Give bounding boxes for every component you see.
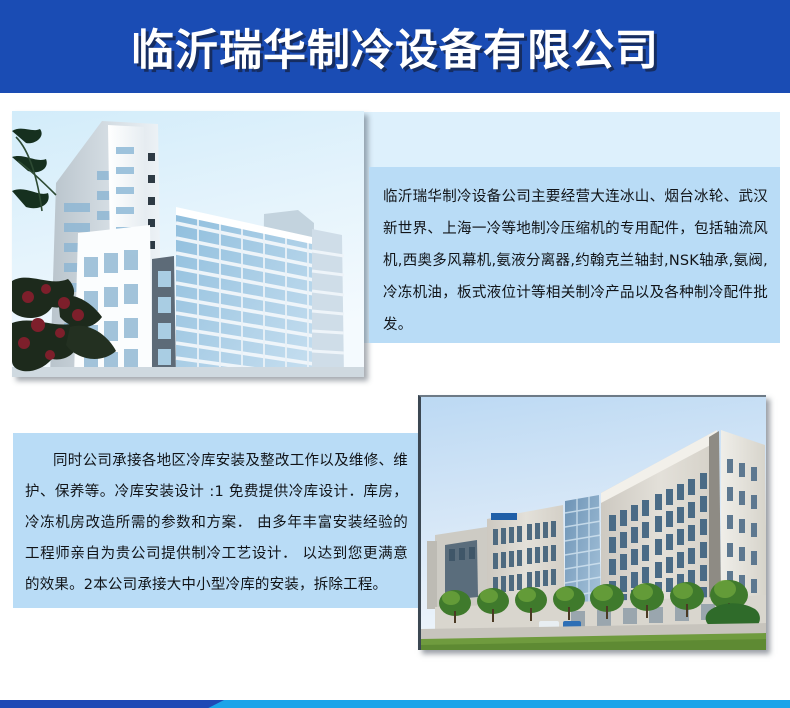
page-title: 临沂瑞华制冷设备有限公司	[0, 0, 790, 93]
photo-top-building	[12, 111, 364, 377]
photo-bottom-canvas	[421, 397, 766, 650]
photo-bottom-building	[418, 395, 766, 650]
footer-bar-left-segment	[0, 700, 224, 708]
services-text-left: 同时公司承接各地区冷库安装及整改工作以及维修、维护、保养等。冷库安装设计 :1 …	[25, 446, 408, 601]
company-intro-page: 临沂瑞华制冷设备有限公司	[0, 0, 790, 708]
services-text-panel-left: 同时公司承接各地区冷库安装及整改工作以及维修、维护、保养等。冷库安装设计 :1 …	[13, 433, 418, 608]
tall-building-photo-illustration	[12, 111, 364, 377]
intro-text-panel-right: 临沂瑞华制冷设备公司主要经营大连冰山、烟台冰轮、武汉新世界、上海一冷等地制冷压缩…	[369, 167, 780, 343]
intro-text-right: 临沂瑞华制冷设备公司主要经营大连冰山、烟台冰轮、武汉新世界、上海一冷等地制冷压缩…	[383, 181, 768, 341]
photo-top-canvas	[12, 111, 364, 377]
footer-bar	[0, 700, 790, 708]
office-complex-photo-illustration	[421, 397, 766, 650]
